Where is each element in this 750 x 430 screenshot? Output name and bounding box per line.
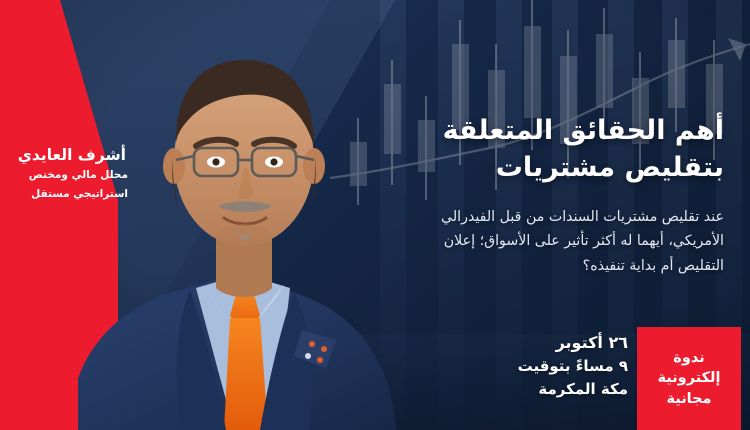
description-text: عند تقليص مشتريات السندات من قبل الفيدرا…: [324, 205, 724, 278]
headline-line-1: أهم الحقائق المتعلقة: [324, 112, 724, 149]
event-datetime: ٢٦ أكتوبر ٩ مساءً بتوقيت مكة المكرمة: [413, 332, 628, 401]
page-title: أهم الحقائق المتعلقة بتقليص مشتريات: [324, 112, 724, 187]
event-time-line-1: ٩ مساءً بتوقيت: [413, 356, 628, 378]
free-webinar-badge: ندوة إلكترونية مجانية: [637, 327, 741, 430]
headline-line-2: بتقليص مشتريات: [324, 149, 724, 186]
webinar-banner: أشرف العايدي محلل مالي ومختص استراتيجي م…: [0, 0, 750, 430]
event-date: ٢٦ أكتوبر: [413, 332, 628, 354]
badge-line-2: إلكترونية: [658, 368, 721, 389]
speaker-credit: أشرف العايدي محلل مالي ومختص استراتيجي م…: [0, 146, 120, 202]
badge-line-3: مجانية: [658, 389, 721, 410]
description-line-1: عند تقليص مشتريات السندات من قبل الفيدرا…: [324, 205, 724, 229]
speaker-role-line-2: استراتيجي مستقل: [2, 187, 128, 202]
event-time-line-2: مكة المكرمة: [413, 379, 628, 401]
speaker-name: أشرف العايدي: [2, 146, 126, 165]
badge-line-1: ندوة: [658, 348, 721, 369]
description-line-3: التقليص أم بداية تنفيذه؟: [324, 254, 724, 278]
description-line-2: الأمريكي، أيهما له أكثر تأثير على الأسوا…: [324, 229, 724, 253]
speaker-role-line-1: محلل مالي ومختص: [2, 168, 128, 183]
